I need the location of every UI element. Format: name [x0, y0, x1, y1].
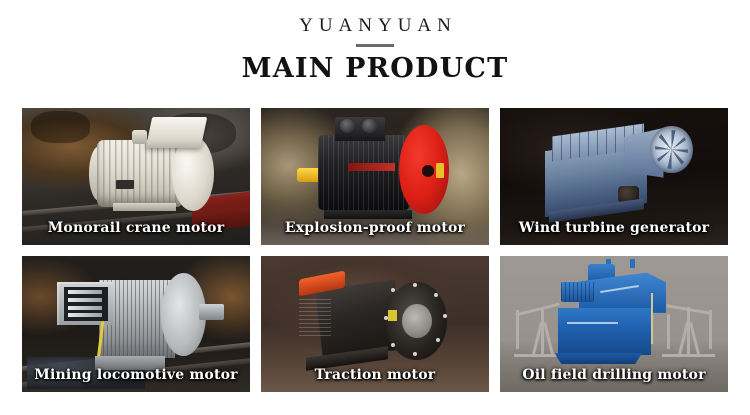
product-card-traction-motor[interactable]: Traction motor	[261, 256, 489, 393]
product-grid: Monorail crane motor	[22, 108, 728, 392]
product-card-explosion-proof-motor[interactable]: Explosion-proof motor	[261, 108, 489, 245]
motor-illustration	[54, 266, 227, 375]
product-card-monorail-crane-motor[interactable]: Monorail crane motor	[22, 108, 250, 245]
product-caption: Wind turbine generator	[500, 220, 728, 236]
product-caption: Mining locomotive motor	[22, 367, 250, 383]
product-card-oil-field-drilling-motor[interactable]: Oil field drilling motor	[500, 256, 728, 393]
motor-illustration	[297, 120, 466, 226]
header-divider	[356, 44, 394, 47]
product-card-wind-turbine-generator[interactable]: Wind turbine generator	[500, 108, 728, 245]
product-card-mining-locomotive-motor[interactable]: Mining locomotive motor	[22, 256, 250, 393]
motor-illustration	[288, 266, 466, 375]
motor-illustration	[546, 264, 696, 376]
product-caption: Monorail crane motor	[22, 220, 250, 236]
motor-illustration	[86, 126, 223, 216]
page-title: MAIN PRODUCT	[0, 54, 750, 84]
brand-name: YUANYUAN	[0, 16, 750, 37]
product-showcase-page: YUANYUAN MAIN PRODUCT	[0, 0, 750, 415]
generator-illustration	[539, 122, 703, 226]
page-header: YUANYUAN MAIN PRODUCT	[0, 0, 750, 84]
product-caption: Oil field drilling motor	[500, 367, 728, 383]
product-caption: Explosion-proof motor	[261, 220, 489, 236]
product-caption: Traction motor	[261, 367, 489, 383]
